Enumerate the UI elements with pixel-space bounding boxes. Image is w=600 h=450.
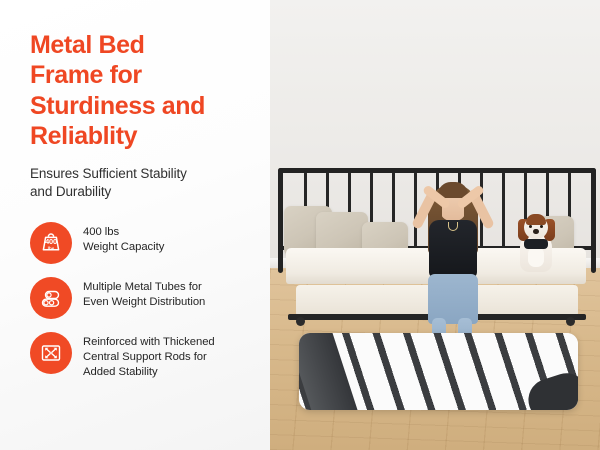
caster-wheel <box>296 317 305 326</box>
feature-label: Reinforced with Thickened Central Suppor… <box>83 332 215 380</box>
feature-item-support-rods: Reinforced with Thickened Central Suppor… <box>30 332 252 380</box>
dog-head-marking <box>526 214 546 225</box>
feature-list: 400 lbs 400 lbs Weight Capacity Multip <box>30 222 252 380</box>
weight-block-icon: 400 lbs <box>30 222 72 264</box>
metal-tubes-icon <box>30 277 72 319</box>
dog-harness <box>524 239 548 249</box>
product-lifestyle-photo <box>270 0 600 450</box>
expand-arrows-icon <box>30 332 72 374</box>
caster-wheel <box>566 317 575 326</box>
feature-item-metal-tubes: Multiple Metal Tubes for Even Weight Dis… <box>30 277 252 319</box>
dog-snout <box>533 229 539 234</box>
product-feature-banner: Metal Bed Frame for Sturdiness and Relia… <box>0 0 600 450</box>
left-content-panel: Metal Bed Frame for Sturdiness and Relia… <box>0 0 270 450</box>
person-seated <box>410 176 496 356</box>
blue-jeans <box>428 274 478 324</box>
page-title: Metal Bed Frame for Sturdiness and Relia… <box>30 30 252 151</box>
feature-item-weight-capacity: 400 lbs 400 lbs Weight Capacity <box>30 222 252 264</box>
dog-chest <box>528 247 544 267</box>
dog-cavalier-spaniel <box>513 212 559 276</box>
slat-support-closeup-inset <box>299 333 578 410</box>
subtitle: Ensures Sufficient Stability and Durabil… <box>30 165 252 201</box>
feature-label: Multiple Metal Tubes for Even Weight Dis… <box>83 277 205 310</box>
feature-label: 400 lbs Weight Capacity <box>83 222 164 255</box>
